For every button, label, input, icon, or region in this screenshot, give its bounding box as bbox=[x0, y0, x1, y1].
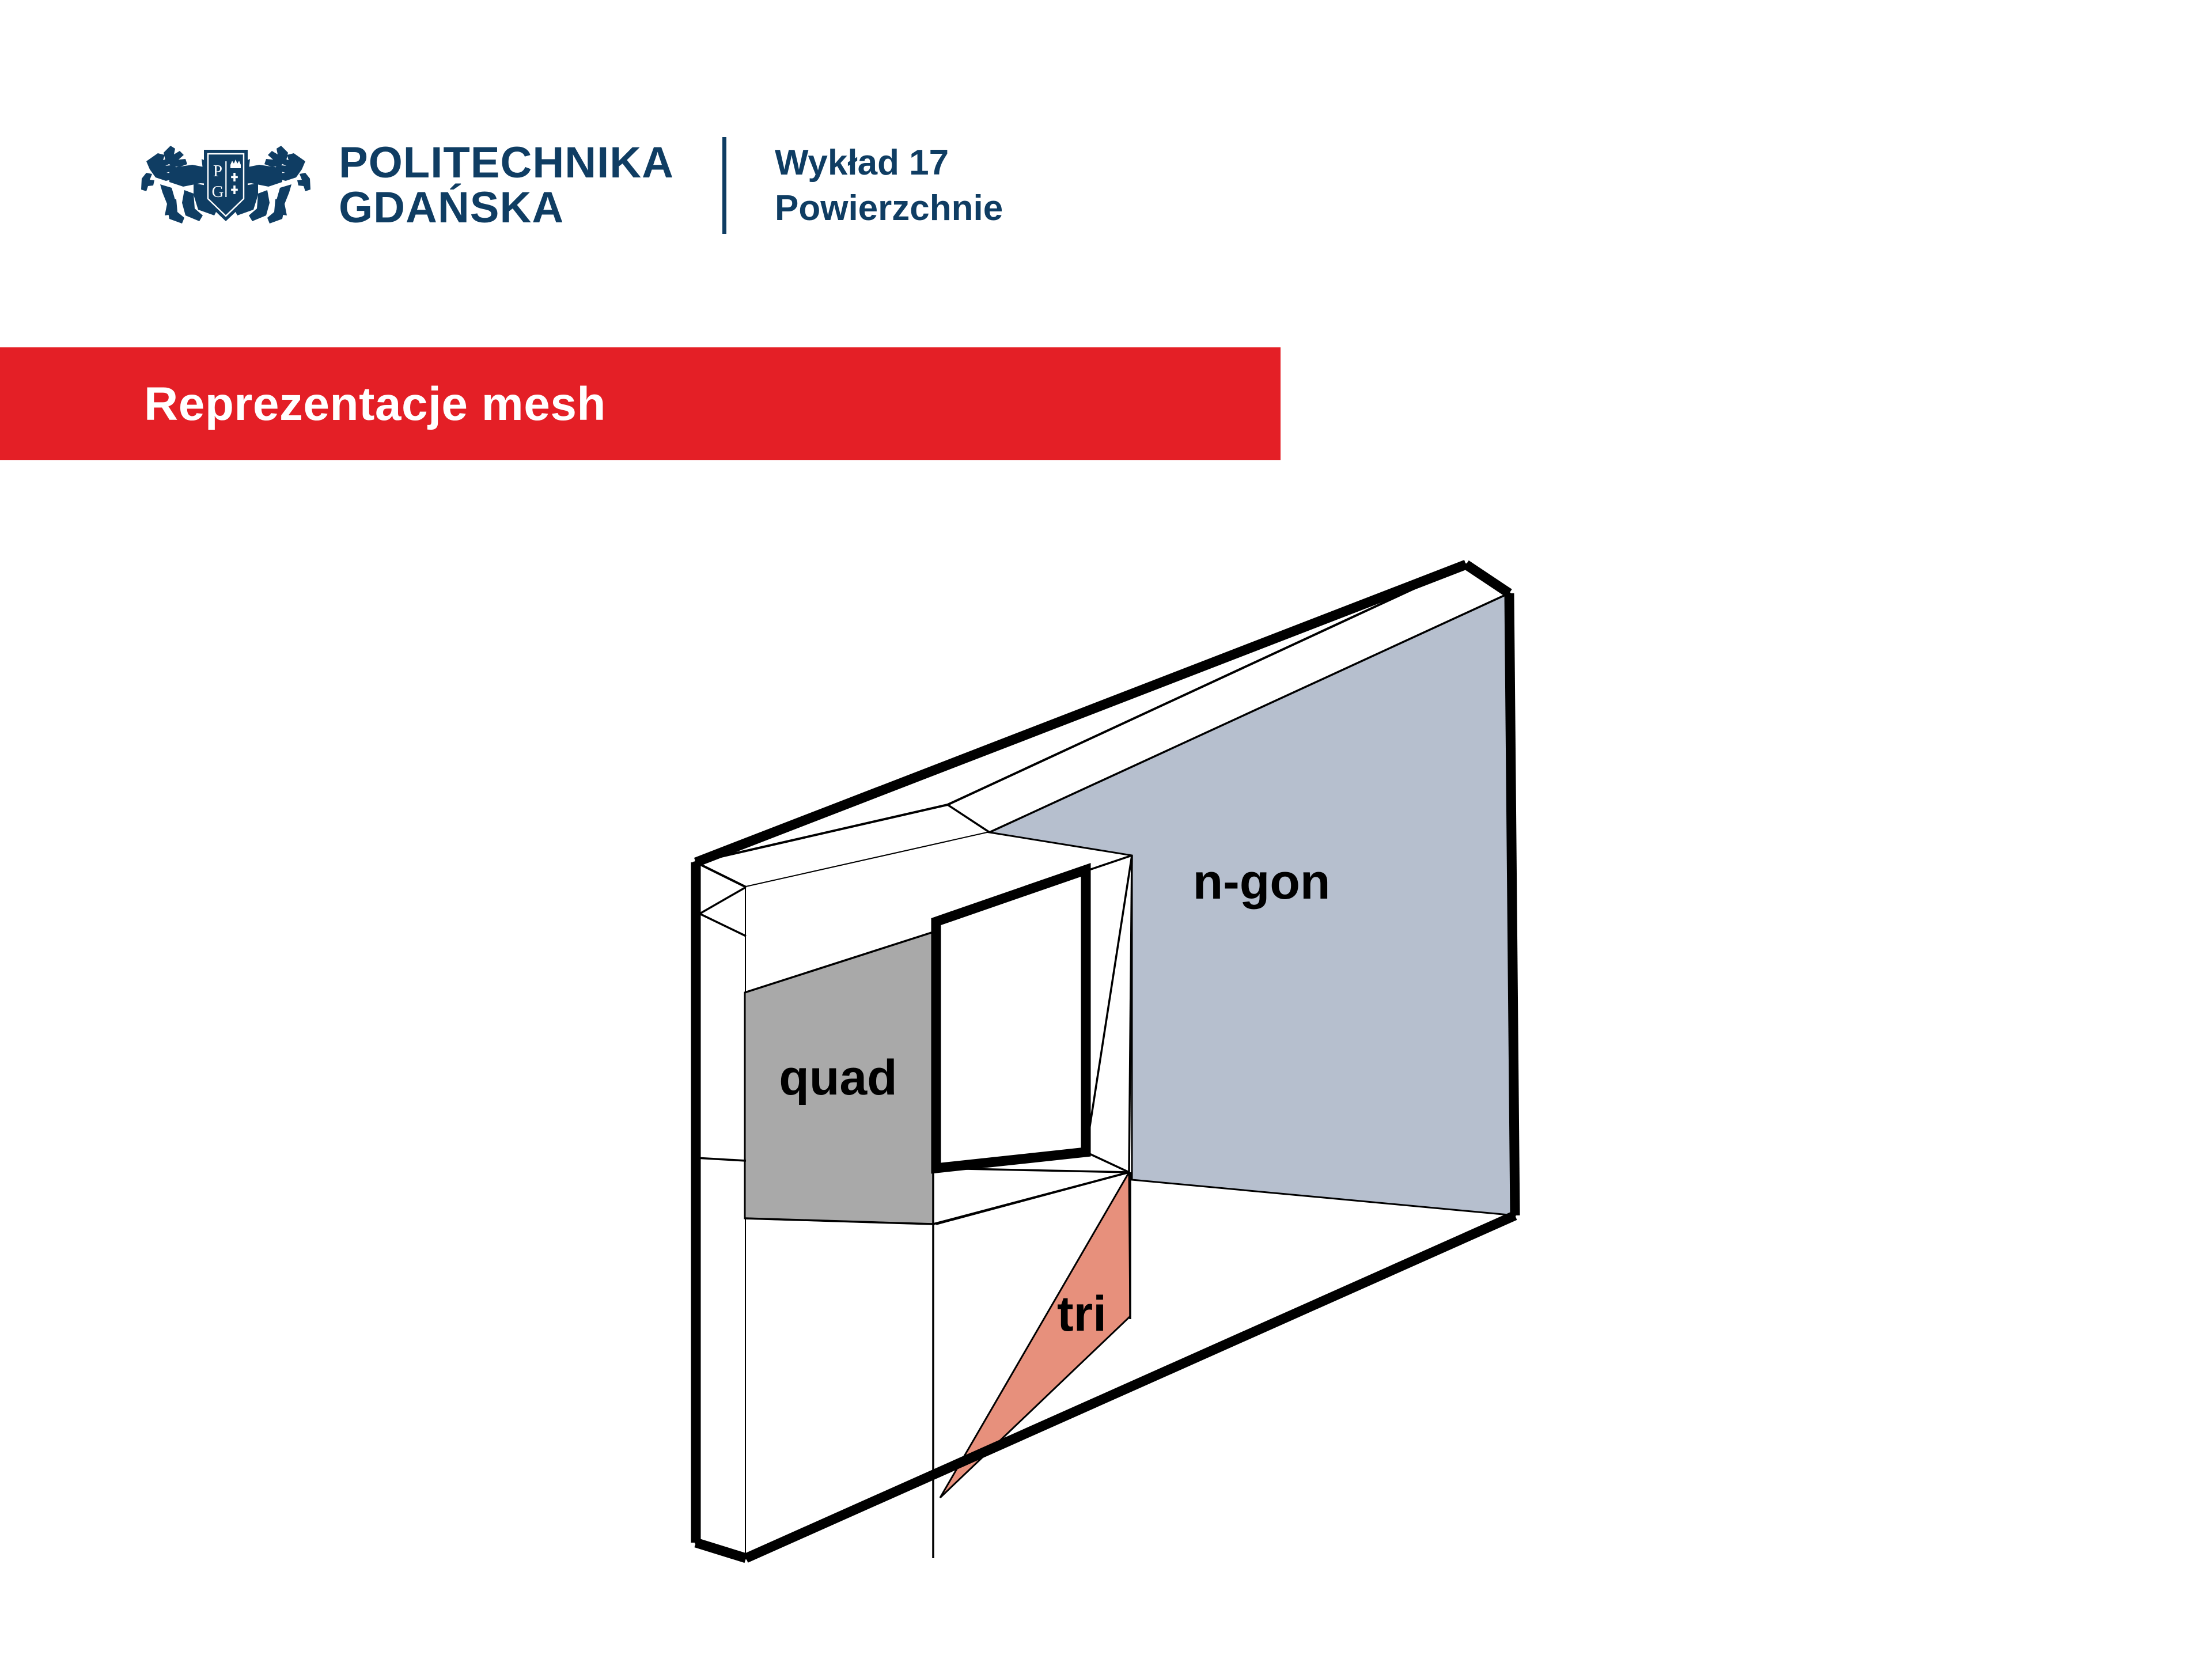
crest-letter-g: G bbox=[212, 183, 224, 201]
lecture-block: Wykład 17 Powierzchnie bbox=[775, 140, 1003, 232]
lecture-number: Wykład 17 bbox=[775, 140, 1003, 185]
header-divider bbox=[722, 137, 726, 234]
university-name-line2: GDAŃSKA bbox=[339, 185, 674, 230]
quad-label: quad bbox=[779, 1050, 897, 1105]
mesh-representation-diagram: n-gon quad tri bbox=[0, 518, 2212, 1659]
hole-quad bbox=[936, 870, 1086, 1168]
slab-left-face bbox=[696, 862, 746, 1558]
university-wordmark: POLITECHNIKA GDAŃSKA bbox=[339, 141, 674, 230]
slide-title-band: Reprezentacje mesh bbox=[0, 347, 1281, 460]
crest-letter-p: P bbox=[213, 162, 222, 180]
brand-block: P G POLITECHNIKA GDAŃSKA Wykład 17 Powie… bbox=[134, 128, 1003, 243]
politechnika-gdanska-crest-icon: P G bbox=[134, 134, 318, 237]
tri-label: tri bbox=[1057, 1286, 1107, 1342]
university-name-line1: POLITECHNIKA bbox=[339, 141, 674, 185]
ngon-label: n-gon bbox=[1193, 854, 1331, 910]
slide-title: Reprezentacje mesh bbox=[144, 377, 606, 431]
mesh-figure-container: n-gon quad tri bbox=[0, 518, 2212, 1659]
lecture-topic: Powierzchnie bbox=[775, 185, 1003, 231]
slide-header: P G POLITECHNIKA GDAŃSKA Wykład 17 Powie… bbox=[0, 0, 2212, 300]
